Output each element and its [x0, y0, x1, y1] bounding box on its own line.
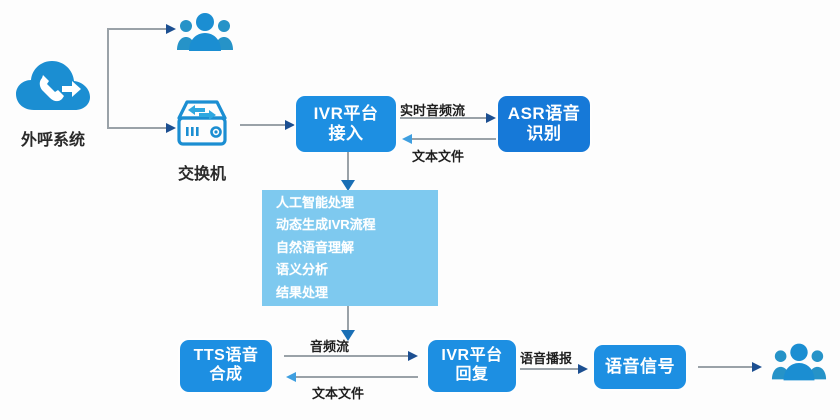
node-asr-line1: ASR语音 — [508, 104, 580, 124]
outbound-system-label: 外呼系统 — [4, 126, 102, 150]
node-asr-line2: 识别 — [527, 124, 562, 144]
switch-label: 交换机 — [162, 160, 242, 184]
edge-label-text-file-top: 文本文件 — [412, 146, 464, 165]
node-ivr-access[interactable]: IVR平台 接入 — [296, 96, 396, 152]
arrowhead-switch-to-ivr — [285, 120, 295, 130]
edge-label-text-file-bottom: 文本文件 — [312, 383, 364, 402]
connector-to-agents — [107, 28, 169, 30]
connector-tts-to-ivr-reply — [284, 355, 410, 357]
node-ivr-reply-line1: IVR平台 — [441, 347, 502, 366]
diagram-canvas: 外呼系统 交换机 IVR平 — [0, 0, 840, 420]
node-tts-line1: TTS语音 — [194, 347, 259, 366]
connector-ivr-reply-to-tts — [296, 376, 418, 378]
connector-ivr-to-ai-panel — [347, 152, 349, 182]
node-voice-signal[interactable]: 语音信号 — [594, 345, 686, 389]
arrowhead-ivr-reply-to-signal — [578, 364, 588, 374]
arrowhead-ivr-reply-to-tts — [286, 372, 296, 382]
edge-label-voice-broadcast: 语音播报 — [520, 348, 572, 367]
people-group-icon-top — [175, 10, 235, 54]
arrowhead-ivr-to-asr — [486, 113, 496, 123]
arrowhead-asr-to-ivr — [402, 134, 412, 144]
node-tts-line2: 合成 — [209, 366, 242, 385]
cloud-phone-icon — [14, 58, 92, 120]
arrowhead-signal-to-customers — [752, 362, 762, 372]
node-voice-signal-line1: 语音信号 — [605, 357, 675, 377]
ai-panel-line-4: 语义分析 — [276, 259, 438, 281]
ai-panel-line-3: 自然语音理解 — [276, 237, 438, 259]
network-switch-icon — [171, 96, 233, 154]
ai-panel-line-2: 动态生成IVR流程 — [276, 214, 438, 236]
ai-panel-line-1: 人工智能处理 — [276, 192, 438, 214]
edge-label-audio-stream-bottom: 音频流 — [310, 336, 349, 355]
node-tts[interactable]: TTS语音 合成 — [180, 340, 272, 392]
node-ivr-reply-line2: 回复 — [455, 366, 488, 385]
arrowhead-tts-to-ivr-reply — [408, 351, 418, 361]
connector-spine-vertical — [107, 28, 109, 129]
people-group-icon-right — [770, 340, 828, 384]
connector-ai-panel-down — [347, 306, 349, 332]
node-ivr-access-line2: 接入 — [329, 124, 364, 144]
connector-asr-to-ivr — [412, 138, 496, 140]
edge-label-realtime-audio-stream: 实时音频流 — [400, 100, 465, 119]
ai-processing-panel[interactable]: 人工智能处理 动态生成IVR流程 自然语音理解 语义分析 结果处理 — [262, 190, 438, 306]
connector-to-switch — [107, 127, 169, 129]
arrowhead-to-agents — [166, 24, 176, 34]
connector-ivr-reply-to-signal — [520, 368, 582, 370]
node-asr[interactable]: ASR语音 识别 — [498, 96, 590, 152]
ai-panel-line-5: 结果处理 — [276, 282, 438, 304]
connector-signal-to-customers — [698, 366, 756, 368]
node-ivr-reply[interactable]: IVR平台 回复 — [428, 340, 516, 392]
node-ivr-access-line1: IVR平台 — [314, 104, 379, 124]
connector-switch-to-ivr — [240, 124, 288, 126]
